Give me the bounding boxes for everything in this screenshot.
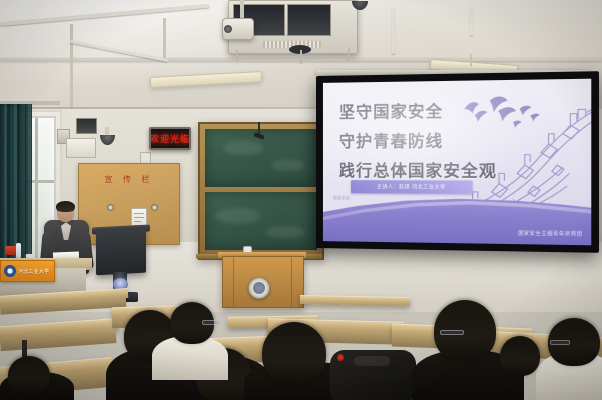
slide-presenter-ribbon: 主讲人：赵琪 河北工业大学 <box>351 180 473 194</box>
front-desk-sign-text: 河北工业大学 <box>18 268 49 275</box>
slide-title-line-1: 坚守国家安全 <box>339 97 443 122</box>
speaker-hair <box>56 201 75 212</box>
slide-footer-text: 国家安全主题青年讲师团 <box>518 230 583 238</box>
university-logo-icon <box>4 265 16 277</box>
slide-presenter-text: 主讲人：赵琪 河北工业大学 <box>377 183 446 190</box>
desk-bottle <box>16 243 21 258</box>
projected-slide: 坚守国家安全 守护青春防线 践行总体国家安全观 国家安全 主讲人：赵琪 河北工业… <box>323 79 591 246</box>
desk-row <box>300 295 410 306</box>
audience-head <box>262 322 326 384</box>
front-desk-sign: 河北工业大学 <box>0 260 55 282</box>
ceiling-conduit <box>392 8 395 54</box>
ceiling-projector <box>222 18 254 40</box>
desk-small-object <box>337 354 344 361</box>
backpack-strap <box>354 356 390 366</box>
ceiling-conduit <box>470 6 473 36</box>
hvac-leg <box>236 50 238 62</box>
light-hanger <box>470 54 472 66</box>
lectern <box>96 227 146 276</box>
glasses-icon <box>202 320 220 325</box>
hvac-leg <box>300 50 302 64</box>
audience-head <box>500 336 540 376</box>
pushpin-icon <box>107 204 114 211</box>
bulletin-board-title: 宣 传 栏 <box>79 174 179 185</box>
wall-equipment-box <box>76 118 97 134</box>
ceiling-support-rod <box>163 18 166 62</box>
flying-doves-icon <box>454 94 550 136</box>
glasses-icon <box>440 330 464 335</box>
projector-lens-icon <box>224 25 232 33</box>
slide-title-line-2: 守护青春防线 <box>339 127 443 152</box>
wall-white-panel <box>66 138 96 158</box>
chalkboard <box>198 122 324 260</box>
window-curtain-fold[interactable] <box>22 104 32 254</box>
chalkboard-panel-lower <box>205 192 317 250</box>
podium-emblem <box>248 277 270 299</box>
led-sign-text: 欢迎光临 <box>150 132 190 145</box>
ceiling-support-rod <box>70 24 73 110</box>
window-mullion <box>35 118 38 266</box>
podium-emblem-crest <box>253 282 265 294</box>
classroom-photo: 欢迎光临 宣 传 栏 <box>0 0 602 400</box>
audience-head <box>8 356 50 394</box>
pushpin-icon <box>151 204 158 211</box>
slide-title-line-3: 践行总体国家安全观 <box>339 157 497 182</box>
slide-corner-tag: 国家安全 <box>333 195 350 201</box>
projection-screen: 坚守国家安全 守护青春防线 践行总体国家安全观 国家安全 主讲人：赵琪 河北工业… <box>316 71 599 253</box>
glasses-icon <box>550 340 570 345</box>
led-scrolling-sign: 欢迎光临 <box>149 127 191 150</box>
hvac-intake-right <box>287 4 331 36</box>
hvac-leg <box>348 48 350 61</box>
projector-mount-arm <box>240 0 244 20</box>
